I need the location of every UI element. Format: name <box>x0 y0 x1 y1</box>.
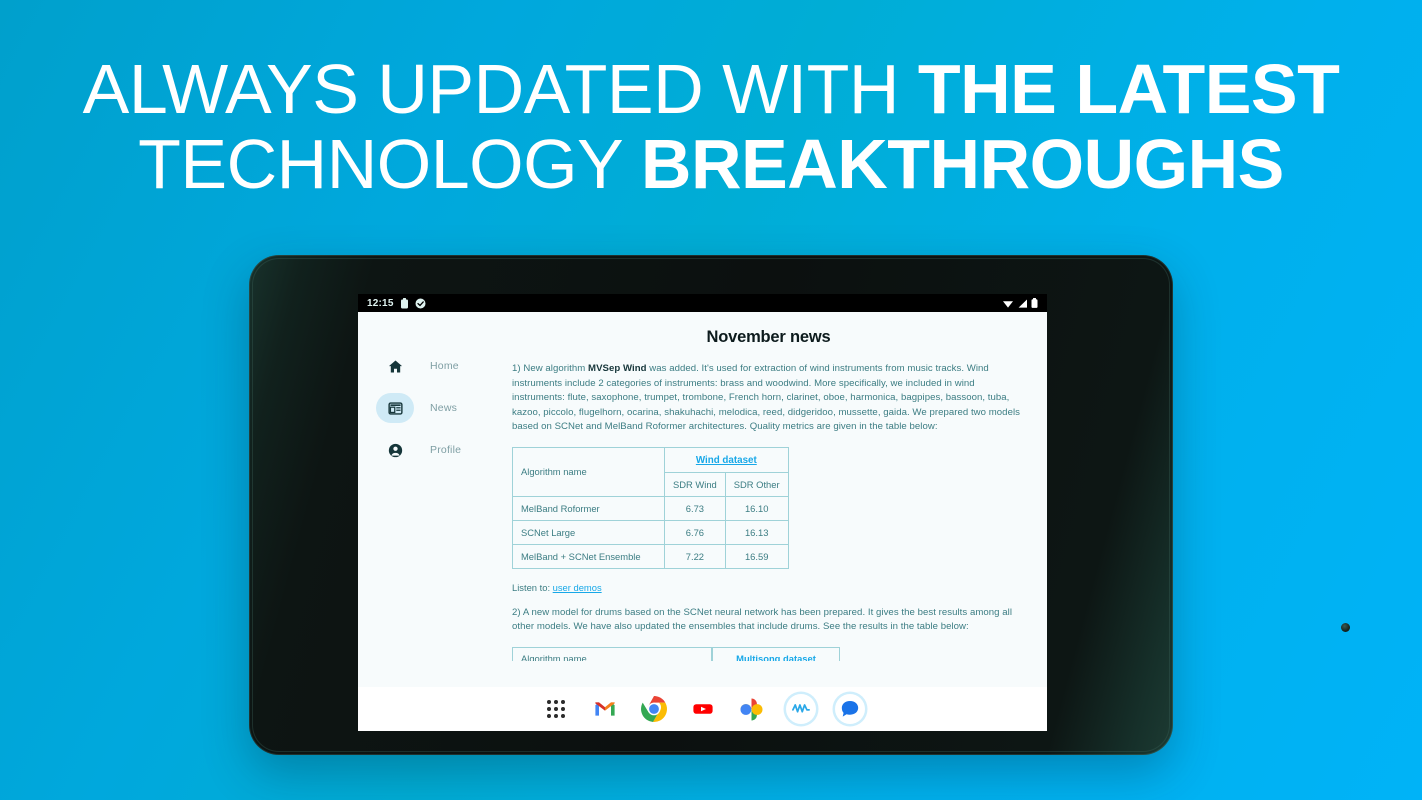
messages-bubble-glyph <box>840 699 860 719</box>
mvsep-waveform-glyph <box>792 700 810 718</box>
table-header-row: Algorithm name Wind dataset <box>513 447 789 472</box>
table-header-algorithm: Algorithm name <box>513 447 665 496</box>
gmail-glyph <box>593 697 617 721</box>
table-subheader-sdr-other: SDR Other <box>725 472 788 496</box>
paragraph-1-bold: MVSep Wind <box>588 363 647 374</box>
headline-line-1-bold: THE LATEST <box>918 50 1339 128</box>
gmail-icon[interactable] <box>590 694 620 724</box>
sidebar: Home News Profile <box>358 312 504 731</box>
status-bar-left: 12:15 <box>367 298 426 309</box>
wind-dataset-link[interactable]: Wind dataset <box>696 455 757 466</box>
paragraph-1-pre: 1) New algorithm <box>512 363 588 374</box>
table2-header-algorithm: Algorithm name <box>512 647 712 661</box>
profile-icon <box>388 443 403 458</box>
drums-results-table-clipped: Algorithm name Multisong dataset <box>512 647 1025 661</box>
wifi-icon <box>1002 298 1014 309</box>
shield-icon <box>415 298 426 309</box>
listen-label: Listen to: <box>512 582 553 593</box>
row-0-name: MelBand Roformer <box>513 496 665 520</box>
headline-line-2-bold: BREAKTHROUGHS <box>641 125 1284 203</box>
table-header-dataset-cell: Wind dataset <box>665 447 789 472</box>
home-icon <box>388 359 403 374</box>
app-window: Home News Profile <box>358 312 1047 731</box>
sidebar-item-profile-label: Profile <box>430 444 461 456</box>
sidebar-item-news-label: News <box>430 402 457 414</box>
home-pill <box>376 351 414 381</box>
messages-icon[interactable] <box>835 694 865 724</box>
table-row: MelBand + SCNet Ensemble 7.22 16.59 <box>513 544 789 568</box>
wind-results-table: Algorithm name Wind dataset SDR Wind SDR… <box>512 447 789 569</box>
sidebar-item-profile[interactable]: Profile <box>358 434 504 466</box>
app-drawer-icon[interactable] <box>541 694 571 724</box>
news-pill <box>376 393 414 423</box>
headline-line-1-light: ALWAYS UPDATED WITH <box>83 50 918 128</box>
chrome-glyph <box>640 695 668 723</box>
tablet-screen: 12:15 Home <box>358 294 1047 731</box>
paragraph-1: 1) New algorithm MVSep Wind was added. I… <box>512 362 1025 435</box>
row-2-name: MelBand + SCNet Ensemble <box>513 544 665 568</box>
row-0-sdr-other: 16.10 <box>725 496 788 520</box>
paragraph-2: 2) A new model for drums based on the SC… <box>512 606 1025 635</box>
row-1-sdr-other: 16.13 <box>725 520 788 544</box>
sensor-dot-icon <box>1341 623 1350 632</box>
headline-line-2-light: TECHNOLOGY <box>138 125 641 203</box>
row-0-sdr-wind: 6.73 <box>665 496 726 520</box>
clock: 12:15 <box>367 298 394 309</box>
signal-icon <box>1017 298 1028 309</box>
youtube-icon[interactable] <box>688 694 718 724</box>
app-drawer-dots <box>547 700 565 718</box>
listen-line: Listen to: user demos <box>512 582 1025 593</box>
table-subheader-sdr-wind: SDR Wind <box>665 472 726 496</box>
table-row: MelBand Roformer 6.73 16.10 <box>513 496 789 520</box>
news-content: November news 1) New algorithm MVSep Win… <box>504 312 1047 731</box>
news-icon <box>388 401 403 416</box>
row-2-sdr-wind: 7.22 <box>665 544 726 568</box>
status-bar-right <box>1002 298 1038 309</box>
table-row: SCNet Large 6.76 16.13 <box>513 520 789 544</box>
google-photos-icon[interactable] <box>737 694 767 724</box>
battery-saver-icon <box>400 298 409 309</box>
sidebar-item-news[interactable]: News <box>358 392 504 424</box>
profile-pill <box>376 435 414 465</box>
headline: ALWAYS UPDATED WITH THE LATEST TECHNOLOG… <box>0 52 1422 202</box>
sidebar-item-home-label: Home <box>430 360 459 372</box>
google-photos-glyph <box>739 697 764 722</box>
youtube-glyph <box>690 696 716 722</box>
mvsep-icon[interactable] <box>786 694 816 724</box>
row-2-sdr-other: 16.59 <box>725 544 788 568</box>
dock <box>358 687 1047 731</box>
user-demos-link[interactable]: user demos <box>553 582 602 593</box>
row-1-sdr-wind: 6.76 <box>665 520 726 544</box>
status-bar: 12:15 <box>358 294 1047 312</box>
chrome-icon[interactable] <box>639 694 669 724</box>
table2-header-dataset: Multisong dataset <box>712 647 840 661</box>
headline-line-1: ALWAYS UPDATED WITH THE LATEST <box>0 52 1422 127</box>
battery-icon <box>1031 298 1038 309</box>
sidebar-item-home[interactable]: Home <box>358 350 504 382</box>
row-1-name: SCNet Large <box>513 520 665 544</box>
headline-line-2: TECHNOLOGY BREAKTHROUGHS <box>0 127 1422 202</box>
page-title: November news <box>512 328 1025 347</box>
